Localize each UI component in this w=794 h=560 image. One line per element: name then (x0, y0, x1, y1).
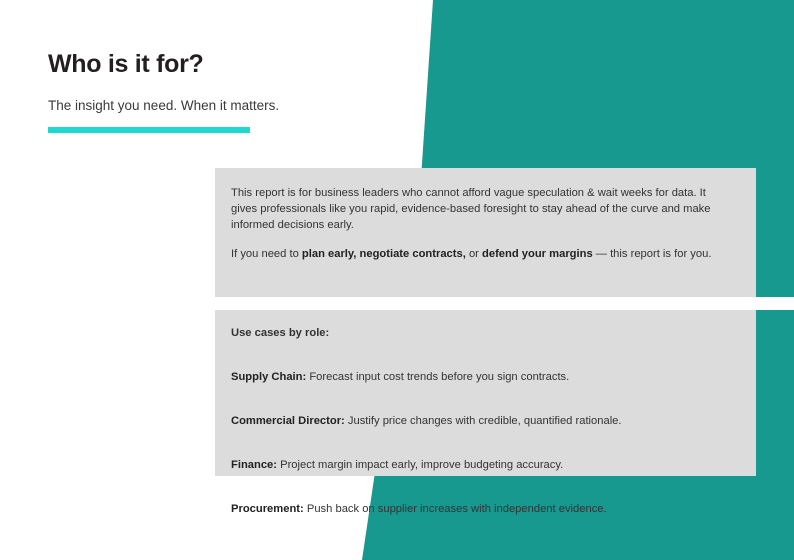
usecase-description: Project margin impact early, improve bud… (277, 459, 563, 471)
intro-p2-tail: — this report is for you. (593, 248, 712, 260)
usecase-description: Justify price changes with credible, qua… (345, 415, 622, 427)
intro-panel: This report is for business leaders who … (215, 168, 756, 297)
usecase-row: Procurement: Push back on supplier incre… (231, 487, 730, 518)
slide-canvas: Who is it for? The insight you need. Whe… (0, 0, 794, 560)
intro-paragraph-1: This report is for business leaders who … (231, 186, 730, 234)
intro-p2-mid: or (466, 248, 482, 260)
usecase-row: Supply Chain: Forecast input cost trends… (231, 355, 730, 386)
usecase-description: Forecast input cost trends before you si… (306, 371, 569, 383)
intro-paragraph-2: If you need to plan early, negotiate con… (231, 247, 730, 263)
usecases-heading: Use cases by role: (231, 326, 730, 342)
page-title: Who is it for? (48, 50, 378, 79)
usecase-role-label: Commercial Director: (231, 415, 345, 427)
usecase-role-label: Procurement: (231, 503, 304, 515)
usecase-row: Finance: Project margin impact early, im… (231, 443, 730, 474)
intro-p2-bold-1: plan early, negotiate contracts, (302, 248, 466, 260)
page-subtitle: The insight you need. When it matters. (48, 79, 378, 115)
header-block: Who is it for? The insight you need. Whe… (48, 50, 378, 114)
intro-p2-lead: If you need to (231, 248, 302, 260)
usecase-role-label: Supply Chain: (231, 371, 306, 383)
accent-underline-bar (48, 127, 250, 133)
usecase-description: Push back on supplier increases with ind… (304, 503, 607, 515)
usecases-panel: Use cases by role: Supply Chain: Forecas… (215, 310, 756, 476)
usecase-role-label: Finance: (231, 459, 277, 471)
usecase-row: Commercial Director: Justify price chang… (231, 399, 730, 430)
intro-p2-bold-2: defend your margins (482, 248, 593, 260)
